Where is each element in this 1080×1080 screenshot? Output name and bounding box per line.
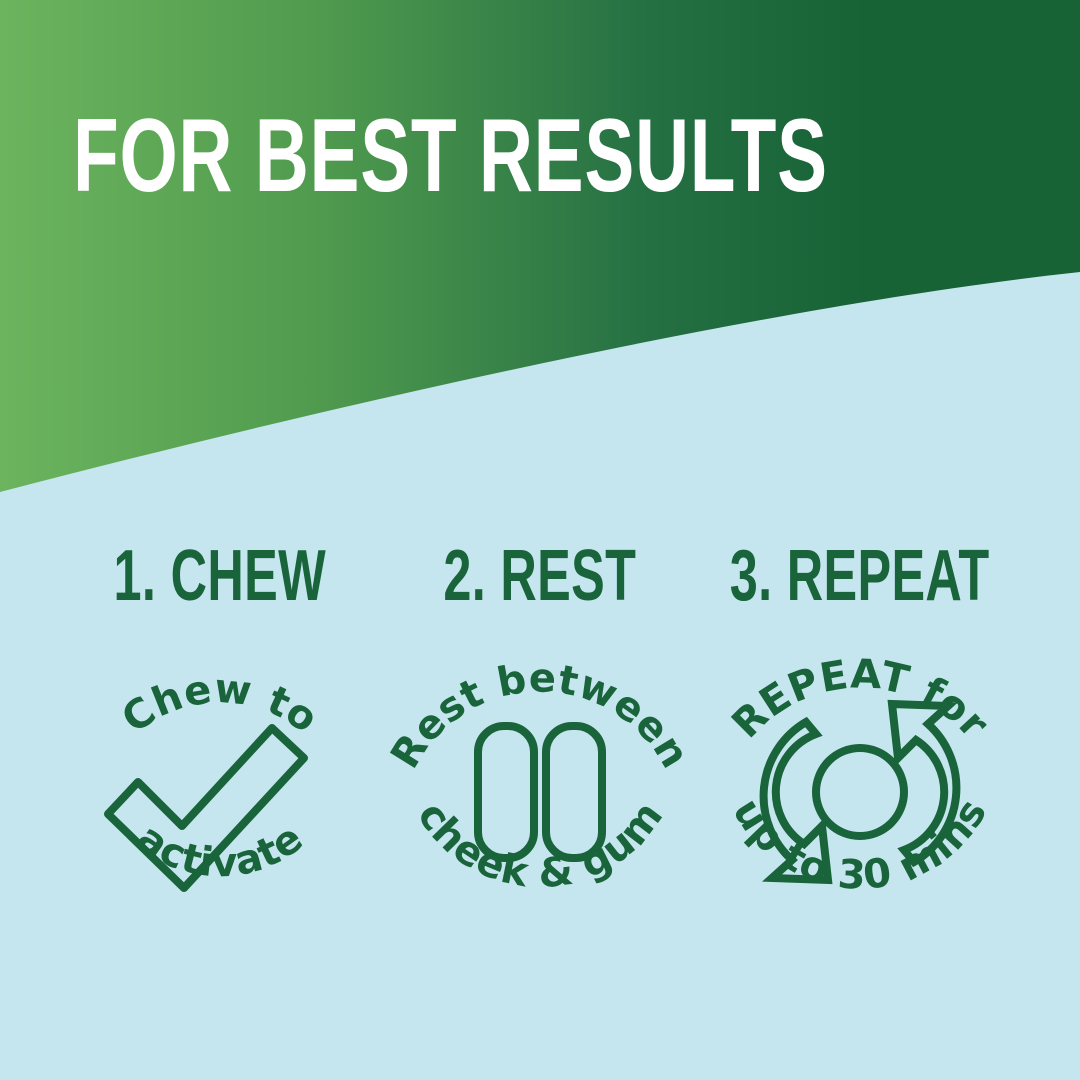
step-repeat-heading: 3. REPEAT <box>730 540 990 612</box>
pause-icon <box>478 726 602 858</box>
step-rest-heading: 2. REST <box>444 540 637 612</box>
page-title: FOR BEST RESULTS <box>73 104 828 208</box>
step-chew-badge: Chew to activate <box>60 630 380 950</box>
step-rest-badge: Rest between cheek & gum <box>380 630 700 950</box>
infographic-card: FOR BEST RESULTS 1. CHEW Chew to <box>0 0 1080 1080</box>
step-rest: 2. REST Rest between <box>380 540 700 950</box>
step-repeat-badge: REPEAT for up to 30 mins <box>700 630 1020 950</box>
steps-row: 1. CHEW Chew to activate <box>0 540 1080 950</box>
step-repeat: 3. REPEAT REPEAT for <box>700 540 1020 950</box>
step-chew-heading: 1. CHEW <box>114 540 326 612</box>
step-rest-arc-top-text: Rest between <box>382 655 698 776</box>
step-chew: 1. CHEW Chew to activate <box>60 540 380 950</box>
step-chew-arc-top-text: Chew to <box>114 666 327 743</box>
header-band <box>0 0 1080 520</box>
header-band-shape <box>0 0 1080 492</box>
step-rest-arc-bottom-text: cheek & gum <box>408 793 672 898</box>
step-repeat-arc-top-text: REPEAT for <box>723 651 997 747</box>
step-chew-arc-bottom-text: activate <box>128 815 311 887</box>
step-repeat-arc-bottom-text: up to 30 mins <box>724 791 997 899</box>
